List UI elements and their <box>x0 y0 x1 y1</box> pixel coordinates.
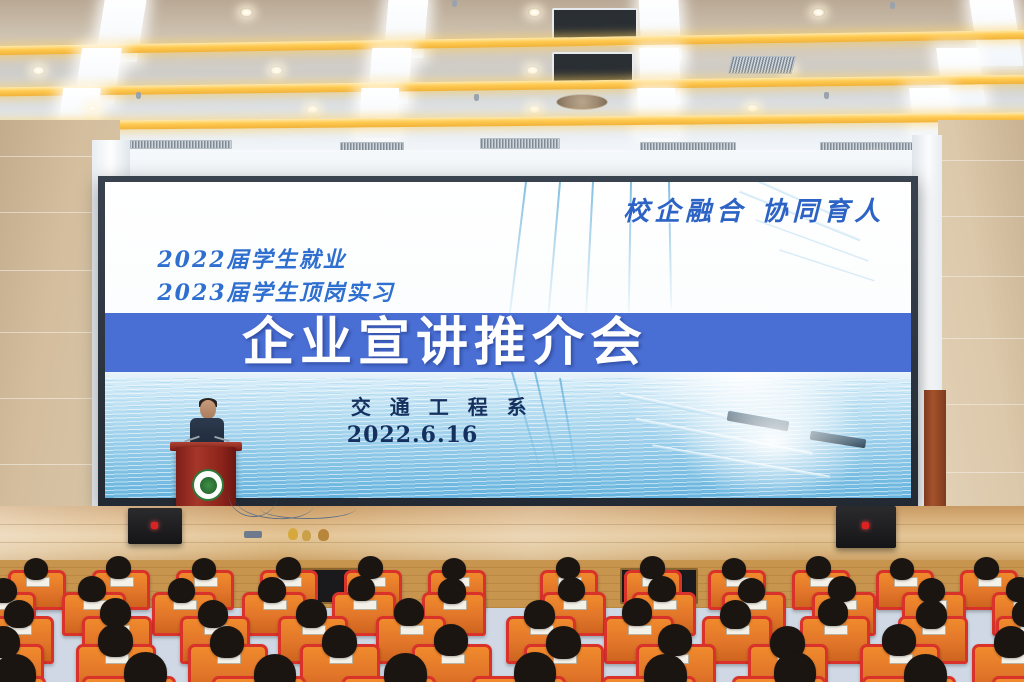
slide-main-title: 企业宣讲推介会 <box>242 316 648 371</box>
audience-member <box>658 624 692 656</box>
round-diffuser <box>556 94 608 110</box>
recessed-downlight <box>812 8 825 17</box>
slide-header-calligraphy: 校企融合 协同育人 <box>623 191 885 228</box>
audience-member <box>106 556 131 579</box>
audience-member <box>738 578 765 603</box>
slide-subtitle-line2: 2023届学生顶岗实习 <box>157 275 394 307</box>
audience-member <box>78 576 106 602</box>
sprinkler-head <box>824 92 829 99</box>
audience-member <box>622 598 652 626</box>
audience-member <box>438 578 466 604</box>
stage-prop <box>318 529 329 541</box>
recessed-downlight <box>32 66 45 75</box>
stage-prop <box>302 530 311 541</box>
audience-member <box>818 598 848 626</box>
stage-prop <box>244 531 262 538</box>
audience-member <box>556 557 580 579</box>
recessed-downlight <box>240 8 253 17</box>
recessed-downlight <box>526 66 539 75</box>
recessed-downlight <box>270 66 283 75</box>
audience-member <box>546 626 581 659</box>
air-vent-grille <box>728 56 796 74</box>
audience-member <box>648 576 676 602</box>
audience-member <box>1006 577 1024 602</box>
audience-member <box>348 576 375 601</box>
audience-member <box>524 600 555 629</box>
audience-member <box>168 578 195 603</box>
audience-member <box>124 652 167 682</box>
stage-monitor-left <box>128 508 182 544</box>
audience-member <box>192 558 216 580</box>
sprinkler-head <box>452 0 457 7</box>
stage-prop <box>288 528 298 540</box>
sprinkler-head <box>890 2 895 9</box>
audience-member <box>890 558 914 580</box>
audience-member <box>394 598 424 626</box>
cable <box>260 498 356 519</box>
seat[interactable] <box>992 676 1024 682</box>
audience-member <box>210 626 244 658</box>
audience-member <box>558 577 585 602</box>
sprinkler-head <box>136 92 141 99</box>
audience-member <box>98 624 133 657</box>
audience-member <box>258 577 286 603</box>
audience-member <box>4 600 34 628</box>
audience-member <box>882 624 916 656</box>
slide-department: 交 通 工 程 系 <box>351 391 533 420</box>
audience-member <box>806 556 831 579</box>
audience-member <box>100 598 131 627</box>
recessed-downlight <box>528 105 541 114</box>
audience-member <box>434 624 468 656</box>
school-crest-icon <box>192 469 224 501</box>
audience-member <box>916 600 947 629</box>
audience-member <box>974 557 999 580</box>
recessed-downlight <box>528 8 541 17</box>
recessed-downlight <box>86 104 99 113</box>
audience-member <box>994 626 1024 658</box>
audience-member <box>198 600 228 628</box>
recessed-downlight <box>306 105 319 114</box>
audience-member <box>720 600 751 629</box>
recessed-downlight <box>746 104 759 113</box>
audience-seating <box>0 556 1024 682</box>
slide-date: 2022.6.16 <box>347 422 478 448</box>
stage-monitor-right <box>836 506 896 548</box>
audience-member <box>24 558 48 580</box>
sprinkler-head <box>474 94 479 101</box>
audience-member <box>722 558 746 580</box>
audience-member <box>442 558 466 580</box>
audience-member <box>276 557 301 580</box>
slide-subtitle-line1: 2022届学生就业 <box>157 242 346 274</box>
wall-right <box>938 120 1024 560</box>
audience-member <box>322 625 357 658</box>
air-vent-grille <box>480 138 560 149</box>
audience-member <box>296 599 327 628</box>
auditorium-photo: 校企融合 协同育人 2022届学生就业 2023届学生顶岗实习 企业宣讲推介会 … <box>0 0 1024 682</box>
presenter-head <box>200 400 216 419</box>
